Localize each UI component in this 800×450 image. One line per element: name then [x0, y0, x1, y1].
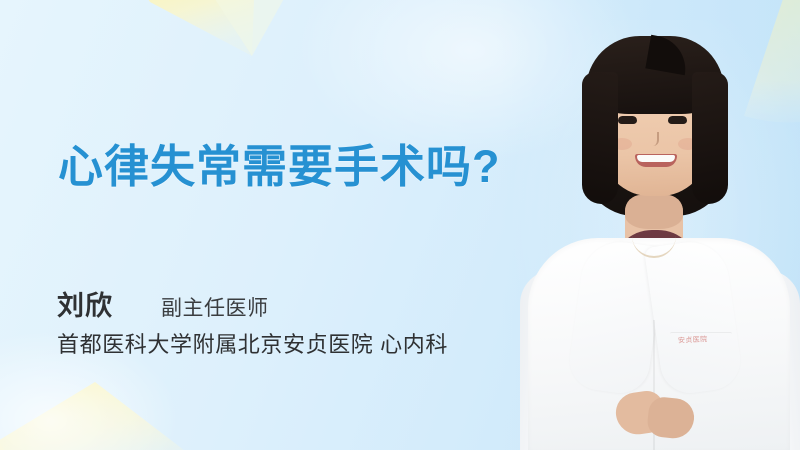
- pocket-embroidery-text: 安贞医院: [678, 334, 708, 346]
- doctor-affiliation: 首都医科大学附属北京安贞医院 心内科: [57, 327, 448, 359]
- doctor-byline: 刘欣 副主任医师: [57, 284, 269, 323]
- eye-right: [668, 116, 687, 124]
- hair-side-right: [692, 72, 728, 204]
- teeth: [637, 155, 675, 162]
- eye-left: [618, 116, 637, 124]
- doctor-portrait: 安贞医院: [520, 20, 800, 450]
- neck-shadow: [625, 195, 683, 229]
- page-title: 心律失常需要手术吗?: [58, 143, 501, 190]
- doctor-rank: 副主任医师: [161, 292, 269, 322]
- yellow-kite-shape-icon: [0, 0, 420, 140]
- hair-side-left: [582, 72, 618, 204]
- doctor-name: 刘欣: [57, 284, 113, 323]
- video-cover-slide: 安贞医院 心律失常需要手术吗? 刘欣 副主任医师 首都医科大学附属北京安贞医院 …: [0, 0, 800, 450]
